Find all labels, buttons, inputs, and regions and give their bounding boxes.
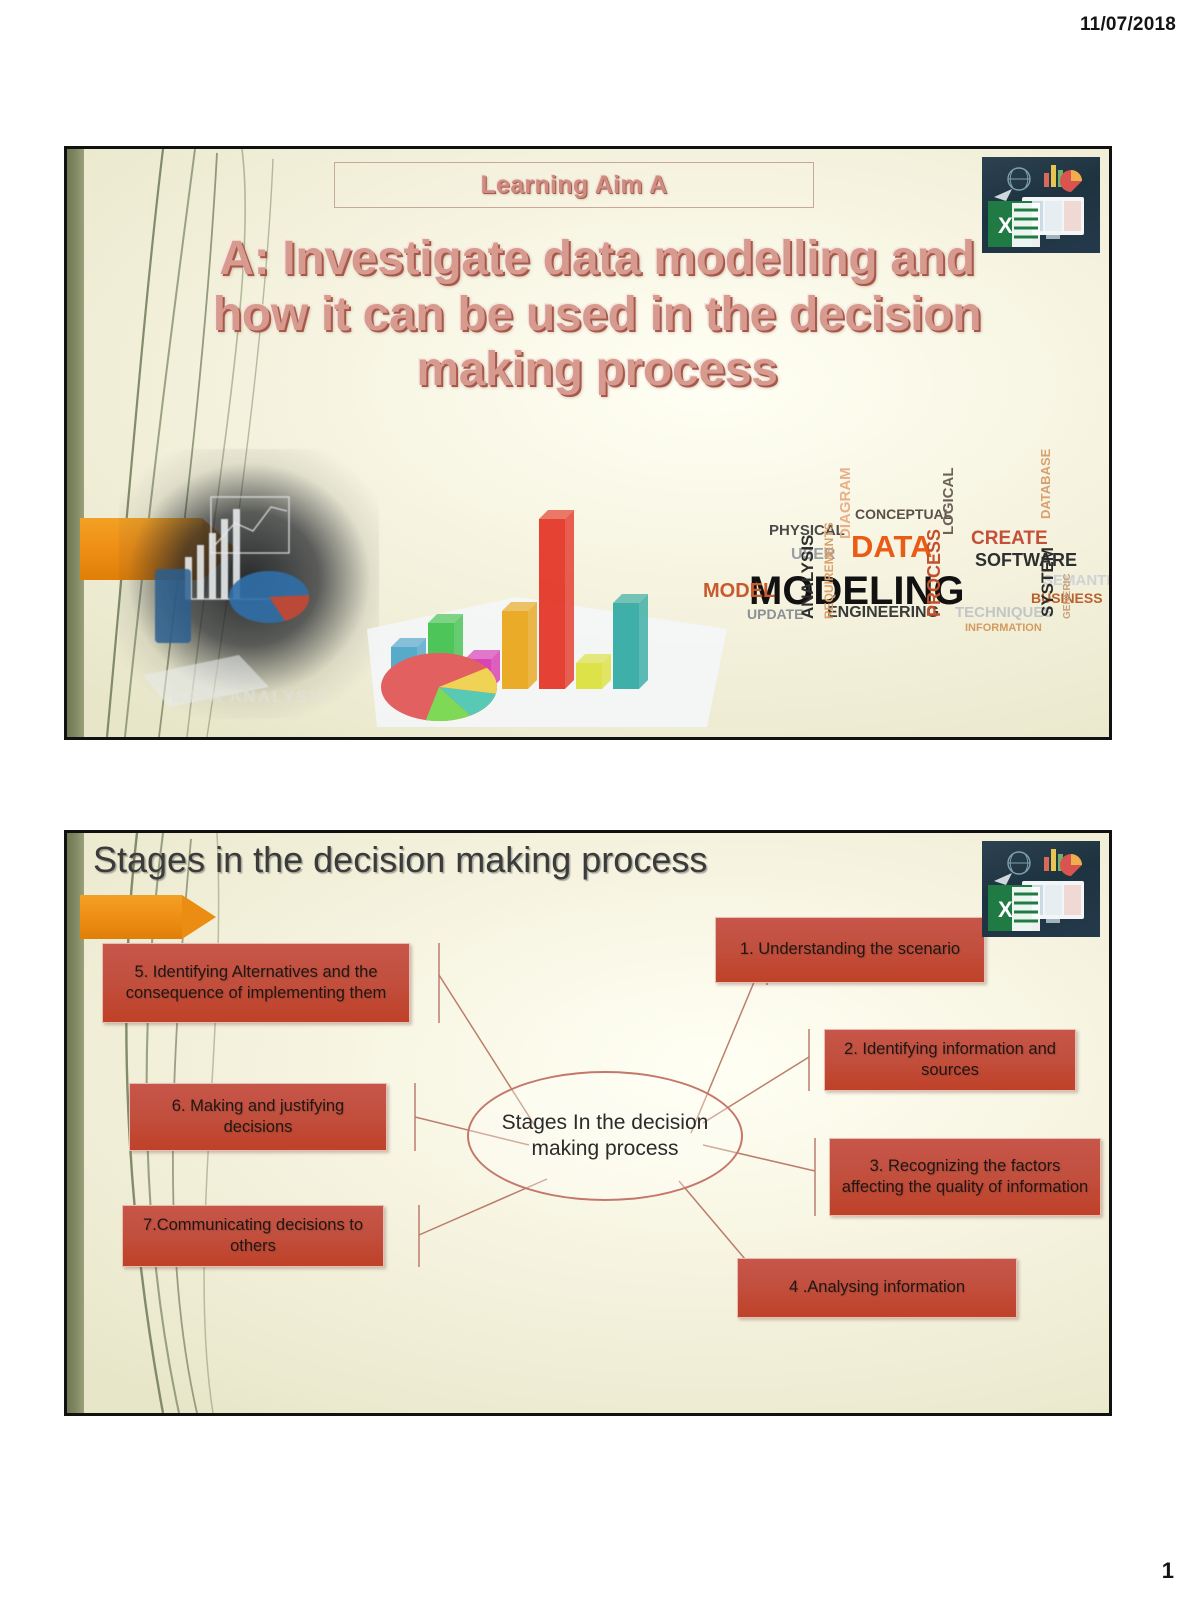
data-modeling-word-cloud: MODELINGDATACONCEPTUALPHYSICALUSERDIAGRA…	[703, 467, 1103, 717]
slide-1[interactable]: Learning Aim A A: Investigate data model…	[64, 146, 1112, 740]
mindmap-node-4[interactable]: 4 .Analysing information	[737, 1258, 1017, 1318]
mindmap-hub-label: Stages In the decision making process	[469, 1110, 741, 1163]
wordcloud-term: REQUIREMENTS	[823, 522, 835, 619]
mindmap-node-label: 2. Identifying information and sources	[833, 1039, 1067, 1081]
data-dashboard-thumbnail: X	[982, 157, 1100, 253]
wordcloud-term: PROCESS	[925, 529, 943, 617]
wordcloud-term: LOGICAL	[941, 468, 956, 536]
slide-2[interactable]: Stages in the decision making process St…	[64, 830, 1112, 1416]
mindmap-hub: Stages In the decision making process	[467, 1071, 743, 1201]
mindmap-node-label: 4 .Analysing information	[789, 1277, 965, 1298]
mindmap-node-3[interactable]: 3. Recognizing the factors affecting the…	[829, 1138, 1101, 1216]
data-dashboard-thumbnail: X	[982, 841, 1100, 937]
mindmap-node-7[interactable]: 7.Communicating decisions to others	[122, 1205, 384, 1267]
mindmap-node-label: 5. Identifying Alternatives and the cons…	[111, 962, 401, 1004]
svg-text:X: X	[998, 897, 1013, 922]
mindmap-node-label: 7.Communicating decisions to others	[131, 1215, 375, 1257]
wordcloud-term: SYSTEM	[1039, 547, 1056, 617]
orange-arrow-accent	[80, 895, 182, 939]
wordcloud-term: INFORMATION	[965, 623, 1042, 634]
mindmap-node-label: 3. Recognizing the factors affecting the…	[838, 1156, 1092, 1198]
data-analysis-caption: DATA ANALYSIS	[171, 687, 330, 707]
wordcloud-term: ENGINEERING	[827, 605, 939, 621]
mindmap-node-label: 6. Making and justifying decisions	[138, 1096, 378, 1138]
bar-chart-photo	[367, 479, 727, 729]
slide-1-edge-bar	[67, 149, 84, 737]
page-number: 1	[1162, 1558, 1174, 1584]
learning-aim-label: Learning Aim A	[480, 171, 667, 200]
wordcloud-term: DATA	[851, 531, 933, 562]
wordcloud-term: DIAGRAM	[838, 467, 853, 539]
wordcloud-term: CONCEPTUAL	[855, 507, 952, 521]
mindmap-node-1[interactable]: 1. Understanding the scenario	[715, 917, 985, 983]
wordcloud-term: MODEL	[703, 581, 775, 601]
mindmap-node-label: 1. Understanding the scenario	[740, 939, 960, 960]
slide-1-title: A: Investigate data modelling and how it…	[187, 231, 1007, 398]
wordcloud-term: SOFTWARE	[975, 551, 1077, 569]
data-analysis-photo: DATA ANALYSIS	[119, 449, 379, 719]
wordcloud-term: ANALYSIS	[799, 535, 816, 619]
wordcloud-term: UPDATE	[747, 607, 804, 621]
learning-aim-banner: Learning Aim A	[334, 162, 814, 208]
wordcloud-term: CREATE	[971, 529, 1048, 548]
slide-2-title: Stages in the decision making process	[93, 839, 707, 881]
wordcloud-term: DATABASE	[1039, 449, 1052, 519]
mindmap-node-2[interactable]: 2. Identifying information and sources	[824, 1029, 1076, 1091]
wordcloud-term: GENERIC	[1063, 573, 1073, 619]
mindmap-node-5[interactable]: 5. Identifying Alternatives and the cons…	[102, 943, 410, 1023]
mindmap-node-6[interactable]: 6. Making and justifying decisions	[129, 1083, 387, 1151]
svg-text:X: X	[998, 213, 1013, 238]
page-date: 11/07/2018	[1080, 14, 1176, 36]
